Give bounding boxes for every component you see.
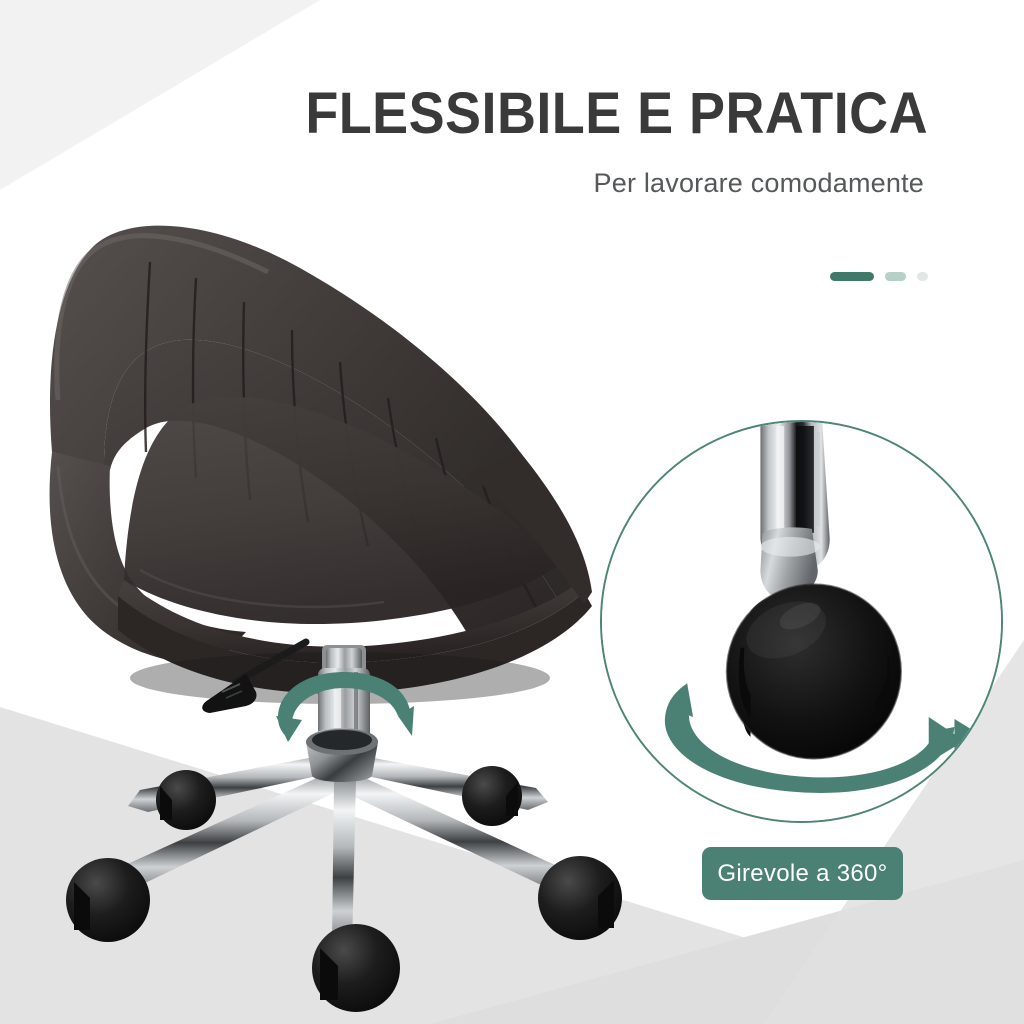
slide-indicator-dash-3[interactable] xyxy=(917,272,928,281)
office-chair-illustration xyxy=(0,0,680,1024)
caster-detail-image xyxy=(602,422,1001,821)
caster-wheel xyxy=(727,584,901,758)
product-marketing-banner: FLESSIBILE E PRATICA Per lavorare comoda… xyxy=(0,0,1024,1024)
page-title: FLESSIBILE E PRATICA xyxy=(65,84,928,145)
chair-backrest xyxy=(50,226,592,694)
slide-indicator-dash-2[interactable] xyxy=(885,272,906,281)
feature-badge-swivel: Girevole a 360° xyxy=(702,847,903,900)
caster-detail-circle xyxy=(600,420,1003,823)
page-subtitle: Per lavorare comodamente xyxy=(0,168,924,199)
chair-base xyxy=(98,728,578,948)
slide-indicator-dash-active[interactable] xyxy=(830,272,874,281)
slide-indicator[interactable] xyxy=(830,272,928,281)
